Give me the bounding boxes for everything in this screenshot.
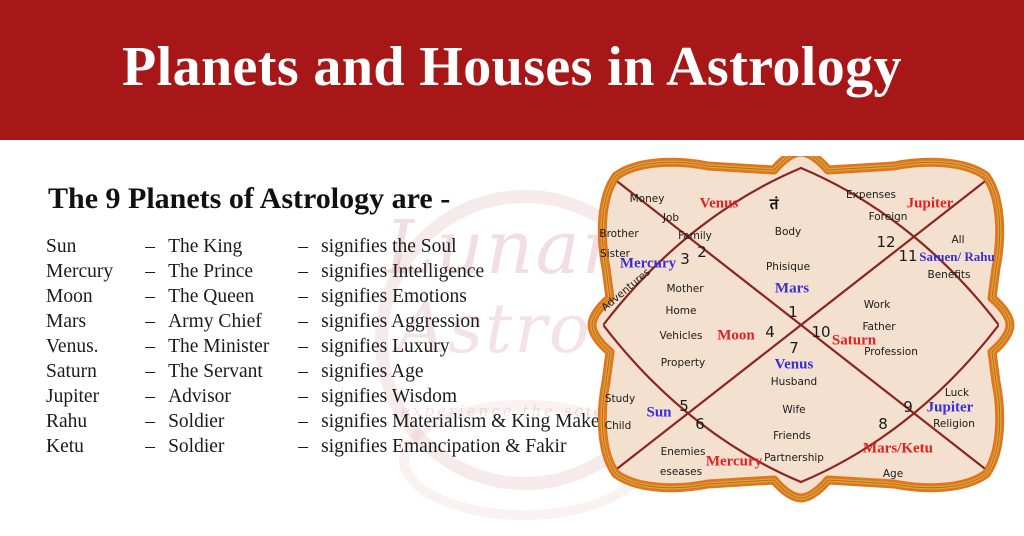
dash-separator: – (285, 434, 321, 459)
table-row: Mars – Army Chief – signifies Aggression (46, 309, 606, 334)
dash-separator: – (132, 434, 168, 459)
label-all: All (951, 234, 964, 246)
table-row: Venus. – The Minister – signifies Luxury (46, 334, 606, 359)
planet-role: Army Chief (168, 309, 285, 334)
table-row: Ketu – Soldier – signifies Emancipation … (46, 434, 606, 459)
label-adventures: Adventures (599, 266, 653, 314)
planet-role: The King (168, 234, 285, 259)
dash-separator: – (285, 409, 321, 434)
planet-saturn-house10: Saturn (832, 333, 876, 350)
label-religion: Religion (933, 418, 975, 430)
planet-mars-house1: Mars (775, 281, 809, 298)
dash-separator: – (285, 259, 321, 284)
house-number-1: 1 (788, 303, 798, 321)
label-wife: Wife (782, 404, 805, 416)
kundli-chart: तं Money Job Family Venus 2 Brother Sist… (578, 156, 1024, 506)
planet-significance: signifies Luxury (321, 334, 606, 359)
label-expenses: Expenses (846, 189, 896, 201)
label-study: Study (605, 393, 635, 405)
dash-separator: – (285, 384, 321, 409)
planet-role: Soldier (168, 409, 285, 434)
table-row: Moon – The Queen – signifies Emotions (46, 284, 606, 309)
label-enemies: Enemies (661, 446, 706, 458)
planet-name: Ketu (46, 434, 132, 459)
dash-separator: – (132, 234, 168, 259)
planet-name: Mars (46, 309, 132, 334)
label-father: Father (862, 321, 895, 333)
planet-mercury-house6: Mercury (706, 454, 762, 471)
planets-panel: The 9 Planets of Astrology are - Sun – T… (46, 182, 606, 459)
dash-separator: – (132, 409, 168, 434)
planet-significance: signifies Emancipation & Fakir (321, 434, 606, 459)
house-number-9: 9 (903, 398, 913, 416)
planet-jupiter-house12: Jupiter (907, 196, 954, 213)
planet-venus-house7: Venus (775, 357, 814, 374)
devanagari-glyph-icon: तं (770, 194, 779, 214)
house-number-3: 3 (680, 250, 690, 268)
label-husband: Husband (771, 376, 817, 388)
label-work: Work (864, 299, 891, 311)
planet-venus-house2: Venus (700, 196, 739, 213)
house-number-2: 2 (697, 243, 707, 261)
dash-separator: – (132, 284, 168, 309)
label-eseases: eseases (660, 466, 702, 478)
planet-role: The Servant (168, 359, 285, 384)
planet-saturn-rahu-house11: Satuen/ Rahu (919, 249, 995, 265)
label-phisique: Phisique (766, 261, 810, 273)
planet-significance: signifies Wisdom (321, 384, 606, 409)
kundli-label-layer: तं Money Job Family Venus 2 Brother Sist… (578, 156, 1024, 506)
planet-role: The Minister (168, 334, 285, 359)
label-home: Home (665, 305, 696, 317)
planet-role: Soldier (168, 434, 285, 459)
planet-moon-house4: Moon (717, 328, 755, 345)
label-brother: Brother (599, 228, 638, 240)
planet-role: Advisor (168, 384, 285, 409)
label-friends: Friends (773, 430, 811, 442)
label-mother: Mother (666, 283, 703, 295)
dash-separator: – (132, 309, 168, 334)
label-property: Property (661, 357, 705, 369)
house-number-4: 4 (765, 323, 775, 341)
table-row: Jupiter – Advisor – signifies Wisdom (46, 384, 606, 409)
dash-separator: – (285, 359, 321, 384)
dash-separator: – (285, 284, 321, 309)
table-row: Saturn – The Servant – signifies Age (46, 359, 606, 384)
page-title: Planets and Houses in Astrology (0, 0, 1024, 140)
label-benefits: Benefits (928, 269, 971, 281)
planet-significance: signifies Materialism & King Maker (321, 409, 606, 434)
planet-name: Saturn (46, 359, 132, 384)
planet-significance: signifies Age (321, 359, 606, 384)
dash-separator: – (285, 334, 321, 359)
label-foreign: Foreign (869, 211, 908, 223)
planet-role: The Queen (168, 284, 285, 309)
table-row: Sun – The King – signifies the Soul (46, 234, 606, 259)
planet-name: Venus. (46, 334, 132, 359)
planet-role: The Prince (168, 259, 285, 284)
dash-separator: – (132, 259, 168, 284)
page-root: Planets and Houses in Astrology Lunar As… (0, 0, 1024, 536)
label-vehicles: Vehicles (659, 330, 702, 342)
house-number-7: 7 (789, 339, 799, 357)
table-row: Rahu – Soldier – signifies Materialism &… (46, 409, 606, 434)
planet-name: Sun (46, 234, 132, 259)
planet-significance: signifies Emotions (321, 284, 606, 309)
house-number-12: 12 (876, 233, 895, 251)
planet-mars-ketu-house8: Mars/Ketu (863, 441, 933, 458)
planet-significance: signifies the Soul (321, 234, 606, 259)
label-age-house8: Age (883, 468, 903, 480)
label-body: Body (775, 226, 802, 238)
house-number-5: 5 (679, 397, 689, 415)
label-child: Child (605, 420, 632, 432)
section-heading: The 9 Planets of Astrology are - (48, 182, 606, 216)
table-row: Mercury – The Prince – signifies Intelli… (46, 259, 606, 284)
planet-jupiter-house9: Jupiter (927, 400, 974, 417)
header-banner: Planets and Houses in Astrology (0, 0, 1024, 140)
label-money: Money (630, 193, 665, 205)
planet-sun-house5: Sun (646, 405, 671, 422)
planet-significance: signifies Aggression (321, 309, 606, 334)
house-number-6: 6 (695, 415, 705, 433)
house-number-11: 11 (898, 247, 917, 265)
dash-separator: – (285, 234, 321, 259)
planets-table: Sun – The King – signifies the Soul Merc… (46, 234, 606, 459)
planet-name: Moon (46, 284, 132, 309)
planet-name: Mercury (46, 259, 132, 284)
dash-separator: – (132, 384, 168, 409)
house-number-10: 10 (811, 323, 830, 341)
label-job: Job (663, 212, 679, 224)
label-family: Family (678, 230, 712, 242)
dash-separator: – (132, 334, 168, 359)
label-luck: Luck (945, 387, 969, 399)
dash-separator: – (132, 359, 168, 384)
planet-significance: signifies Intelligence (321, 259, 606, 284)
dash-separator: – (285, 309, 321, 334)
planet-name: Jupiter (46, 384, 132, 409)
house-number-8: 8 (878, 415, 888, 433)
label-partnership: Partnership (764, 452, 824, 464)
planet-name: Rahu (46, 409, 132, 434)
